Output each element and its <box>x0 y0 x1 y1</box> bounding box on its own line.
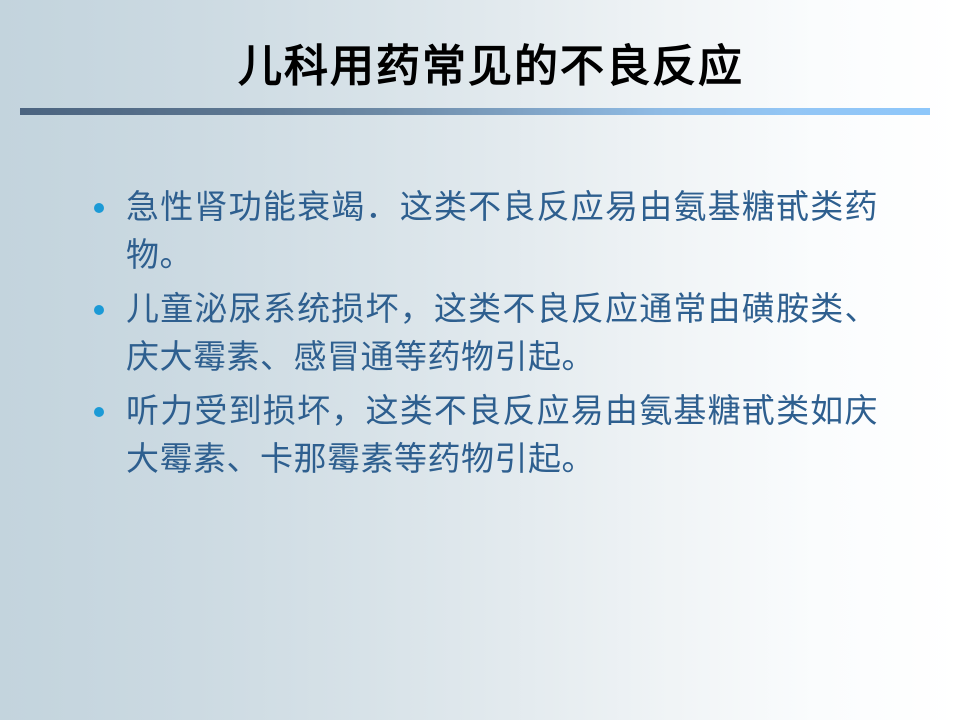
bullet-dot-icon <box>94 203 104 213</box>
list-item: 听力受到损坏，这类不良反应易由氨基糖甙类如庆大霉素、卡那霉素等药物引起。 <box>88 388 878 484</box>
list-item-text: 急性肾功能衰竭．这类不良反应易由氨基糖甙类药物。 <box>126 184 878 280</box>
title-divider <box>20 108 930 115</box>
bullet-dot-icon <box>94 305 104 315</box>
page-title: 儿科用药常见的不良反应 <box>96 38 886 96</box>
bullet-list: 急性肾功能衰竭．这类不良反应易由氨基糖甙类药物。 儿童泌尿系统损坏，这类不良反应… <box>88 184 878 490</box>
list-item: 急性肾功能衰竭．这类不良反应易由氨基糖甙类药物。 <box>88 184 878 280</box>
bullet-dot-icon <box>94 407 104 417</box>
list-item-text: 听力受到损坏，这类不良反应易由氨基糖甙类如庆大霉素、卡那霉素等药物引起。 <box>126 388 878 484</box>
presentation-slide: 儿科用药常见的不良反应 急性肾功能衰竭．这类不良反应易由氨基糖甙类药物。 儿童泌… <box>0 0 960 720</box>
slide-title-block: 儿科用药常见的不良反应 <box>0 38 960 106</box>
list-item-text: 儿童泌尿系统损坏，这类不良反应通常由磺胺类、庆大霉素、感冒通等药物引起。 <box>126 286 878 382</box>
list-item: 儿童泌尿系统损坏，这类不良反应通常由磺胺类、庆大霉素、感冒通等药物引起。 <box>88 286 878 382</box>
